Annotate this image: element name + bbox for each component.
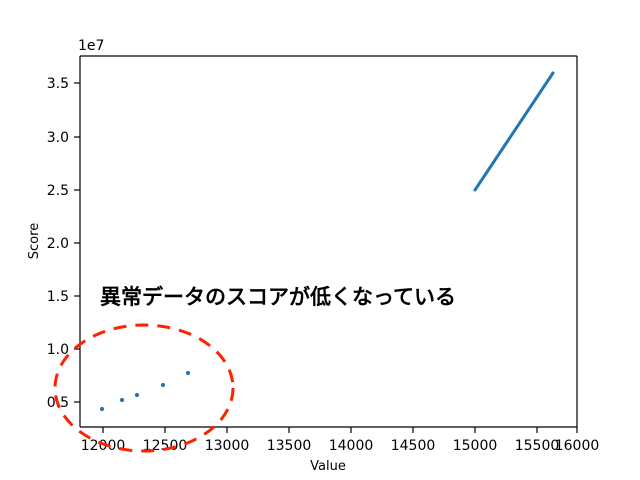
x-tick-label-16000: 16000: [555, 438, 600, 454]
y-tick-label-3.0: 3.0: [47, 130, 69, 146]
x-tick-label-13000: 13000: [205, 438, 250, 454]
anomaly-annotation-text: 異常データのスコアが低くなっている: [100, 285, 456, 309]
x-tick-label-13500: 13500: [267, 438, 312, 454]
y-tick-label-3.5: 3.5: [47, 76, 69, 92]
y-axis-offset-text: 1e7: [78, 38, 104, 54]
anomaly-point: [186, 371, 190, 375]
y-tick-label-1.0: 1.0: [47, 342, 69, 358]
anomaly-point: [161, 383, 165, 387]
scatter-line-chart: 1e7 3.5 3.0 2.5 2.0 1.5 1.0 0.5 12000 12…: [0, 0, 640, 480]
y-tick-label-2.5: 2.5: [47, 183, 69, 199]
x-tick-label-14000: 14000: [329, 438, 374, 454]
anomaly-point: [120, 398, 124, 402]
y-tick-label-1.5: 1.5: [47, 289, 69, 305]
anomaly-point: [100, 407, 104, 411]
x-axis-title: Value: [310, 459, 346, 474]
plot-area-background: [80, 56, 577, 427]
x-tick-label-15000: 15000: [453, 438, 498, 454]
y-tick-label-2.0: 2.0: [47, 236, 69, 252]
y-axis-title: Score: [27, 223, 42, 259]
chart-figure: 1e7 3.5 3.0 2.5 2.0 1.5 1.0 0.5 12000 12…: [0, 0, 640, 480]
x-tick-label-12000: 12000: [81, 438, 126, 454]
x-tick-label-14500: 14500: [391, 438, 436, 454]
anomaly-point: [135, 393, 139, 397]
x-tick-label-15500: 15500: [515, 438, 560, 454]
